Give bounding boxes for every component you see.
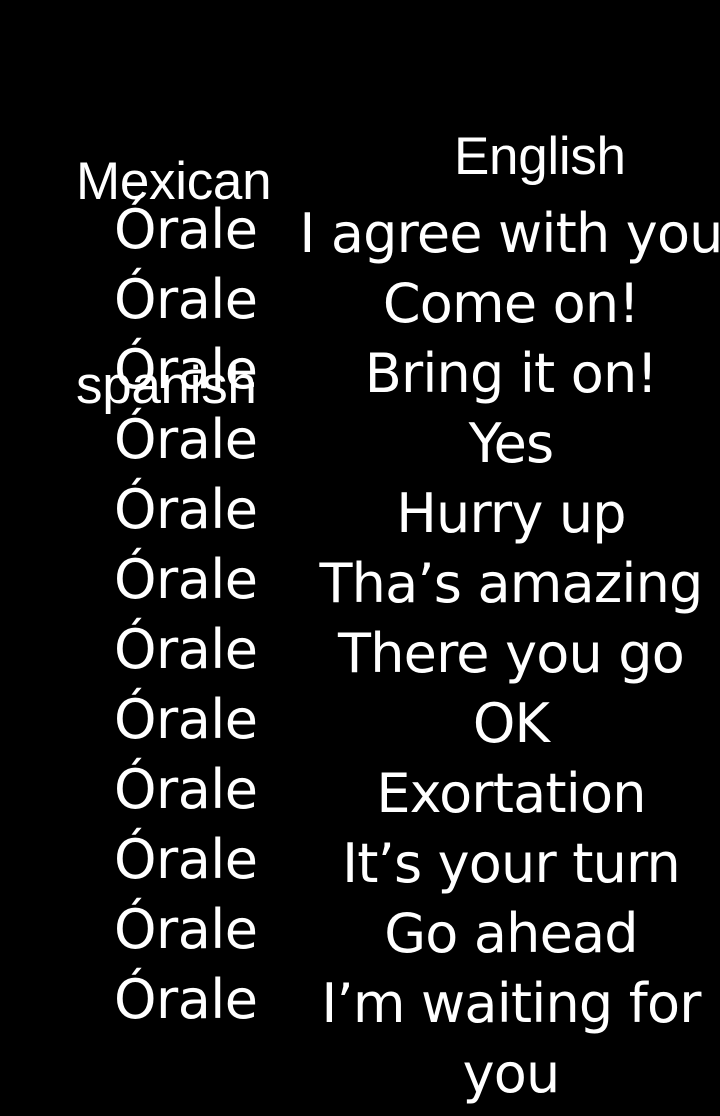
table-row: Órale Bring it on! (0, 339, 720, 409)
table-row: Órale I’m waiting for you (0, 969, 720, 1039)
table-row: Órale Hurry up (0, 479, 720, 549)
cell-english-line: Yes (261, 409, 720, 479)
table-row: Órale Go ahead (0, 899, 720, 969)
cell-english: Exortation (261, 759, 720, 829)
cell-english-line: you (261, 1039, 720, 1109)
cell-english-line: Go ahead (261, 899, 720, 969)
cell-english-line: Come on! (261, 269, 720, 339)
cell-english: Bring it on! (261, 339, 720, 409)
cell-spanish: Órale (114, 689, 258, 751)
cell-english: There you go (261, 619, 720, 689)
cell-spanish: Órale (114, 829, 258, 891)
table-row: Órale OK (0, 689, 720, 759)
cell-english: I’m waiting for you (261, 969, 720, 1109)
cell-spanish: Órale (114, 479, 258, 541)
cell-english-line: I’m waiting for (261, 969, 720, 1039)
cell-english: Tha’s amazing (261, 549, 720, 619)
cell-spanish: Órale (114, 199, 258, 261)
cell-english: It’s your turn (261, 829, 720, 899)
table-row: Órale It’s your turn (0, 829, 720, 899)
cell-english: OK (261, 689, 720, 759)
cell-english-line: There you go (261, 619, 720, 689)
cell-english: Come on! (261, 269, 720, 339)
cell-spanish: Órale (114, 339, 258, 401)
cell-english: Yes (261, 409, 720, 479)
cell-english-line: It’s your turn (261, 829, 720, 899)
table-row: Órale Exortation (0, 759, 720, 829)
table-row: Órale Yes (0, 409, 720, 479)
cell-english-line: I agree with you (261, 199, 720, 269)
cell-spanish: Órale (114, 409, 258, 471)
translation-table-body: Órale I agree with you Órale Come on! Ór… (0, 199, 720, 1039)
cell-english: Go ahead (261, 899, 720, 969)
cell-english-line: Bring it on! (261, 339, 720, 409)
table-row: Órale Tha’s amazing (0, 549, 720, 619)
cell-english: Hurry up (261, 479, 720, 549)
cell-spanish: Órale (114, 269, 258, 331)
cell-english-line: OK (261, 689, 720, 759)
table-row: Órale There you go (0, 619, 720, 689)
table-row: Órale Come on! (0, 269, 720, 339)
table-row: Órale I agree with you (0, 199, 720, 269)
column-header-english-line-1: English (454, 127, 626, 186)
cell-spanish: Órale (114, 969, 258, 1031)
cell-english-line: Tha’s amazing (261, 549, 720, 619)
cell-english: I agree with you (261, 199, 720, 269)
cell-english-line: Hurry up (261, 479, 720, 549)
image-canvas: Mexican spanish English Órale I agree wi… (0, 0, 720, 1116)
cell-spanish: Órale (114, 899, 258, 961)
cell-english-line: Exortation (261, 759, 720, 829)
cell-spanish: Órale (114, 549, 258, 611)
cell-spanish: Órale (114, 759, 258, 821)
cell-spanish: Órale (114, 619, 258, 681)
